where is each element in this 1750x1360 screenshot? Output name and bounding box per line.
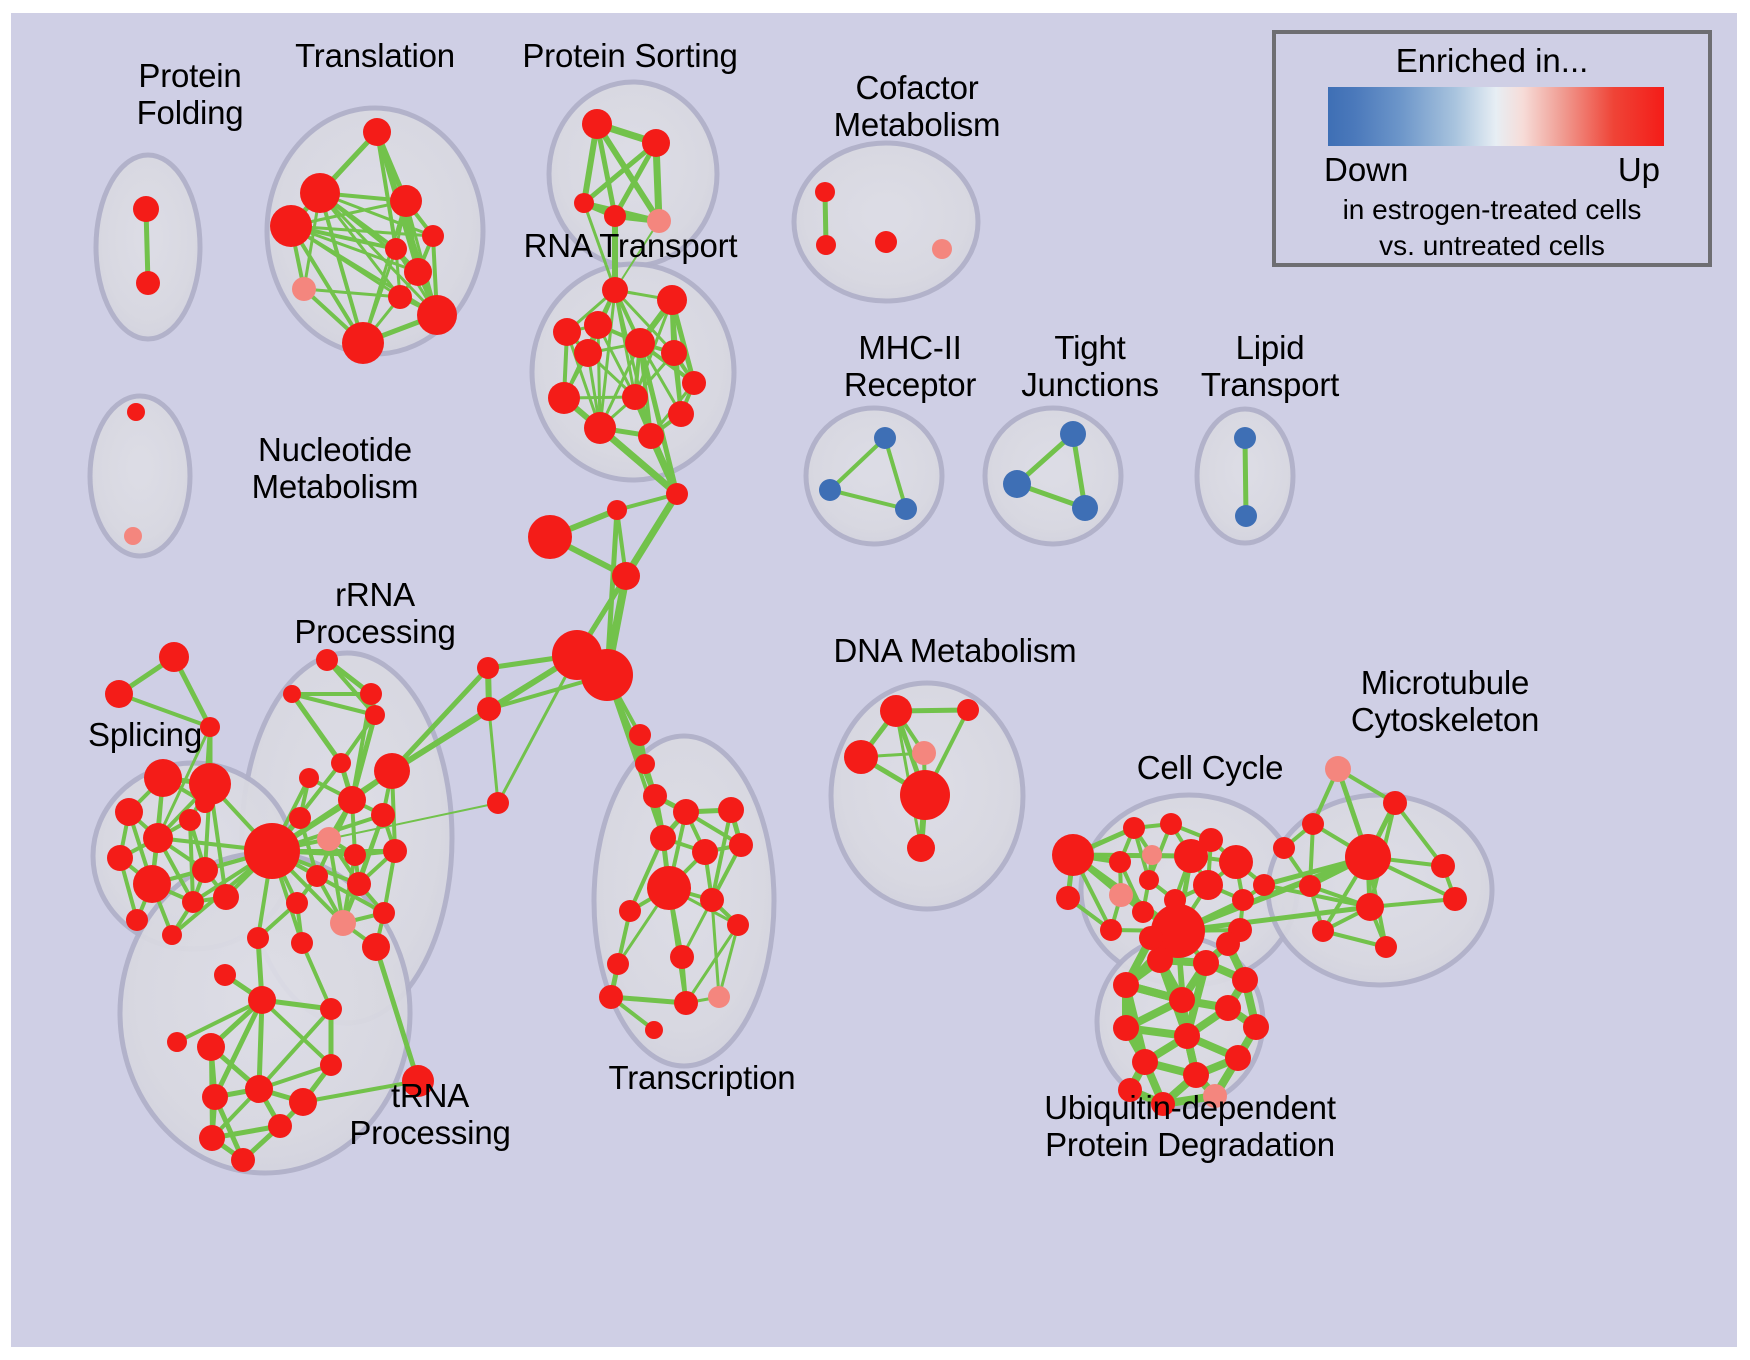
network-node[interactable]	[647, 866, 691, 910]
network-node[interactable]	[487, 792, 509, 814]
network-node[interactable]	[1193, 870, 1223, 900]
network-node[interactable]	[162, 925, 182, 945]
network-node[interactable]	[363, 118, 391, 146]
network-node[interactable]	[700, 888, 724, 912]
network-node[interactable]	[159, 642, 189, 672]
network-node[interactable]	[126, 909, 148, 931]
cluster-label-translation: Translation	[255, 38, 495, 75]
network-node[interactable]	[880, 695, 912, 727]
network-node[interactable]	[1356, 893, 1384, 921]
legend-subtitle-line2: vs. untreated cells	[1276, 230, 1708, 262]
cluster-hull-cofactor-metabolism	[794, 143, 978, 301]
network-node[interactable]	[1123, 817, 1145, 839]
network-node[interactable]	[668, 401, 694, 427]
network-node[interactable]	[1132, 1049, 1158, 1075]
network-node[interactable]	[124, 527, 142, 545]
network-node[interactable]	[622, 384, 648, 410]
network-node[interactable]	[182, 891, 204, 913]
network-node[interactable]	[718, 797, 744, 823]
network-node[interactable]	[674, 991, 698, 1015]
network-node[interactable]	[708, 986, 730, 1008]
network-node[interactable]	[844, 740, 878, 774]
network-node[interactable]	[1072, 495, 1098, 521]
network-node[interactable]	[306, 865, 328, 887]
network-node[interactable]	[105, 680, 133, 708]
network-node[interactable]	[604, 205, 626, 227]
network-node[interactable]	[373, 902, 395, 924]
network-node[interactable]	[248, 986, 276, 1014]
cluster-label-dna-metabolism: DNA Metabolism	[810, 633, 1100, 670]
network-node[interactable]	[365, 705, 385, 725]
network-node[interactable]	[1443, 887, 1467, 911]
network-node[interactable]	[283, 685, 301, 703]
network-node[interactable]	[932, 239, 952, 259]
network-node[interactable]	[1183, 1062, 1209, 1088]
network-node[interactable]	[599, 985, 623, 1009]
network-node[interactable]	[912, 741, 936, 765]
network-node[interactable]	[815, 182, 835, 202]
network-node[interactable]	[1216, 932, 1240, 956]
network-node[interactable]	[144, 759, 182, 797]
network-node[interactable]	[1302, 813, 1324, 835]
network-node[interactable]	[645, 1021, 663, 1039]
cluster-label-protein-sorting: Protein Sorting	[495, 38, 765, 75]
network-node[interactable]	[388, 285, 412, 309]
network-node[interactable]	[338, 786, 366, 814]
network-node[interactable]	[1375, 936, 1397, 958]
network-node[interactable]	[213, 884, 239, 910]
network-node[interactable]	[1232, 889, 1254, 911]
legend-low-label: Down	[1324, 151, 1408, 189]
network-node[interactable]	[1225, 1045, 1251, 1071]
legend-high-label: Up	[1618, 151, 1660, 189]
network-node[interactable]	[422, 225, 444, 247]
network-node[interactable]	[553, 318, 581, 346]
network-node[interactable]	[299, 768, 319, 788]
network-node[interactable]	[607, 953, 629, 975]
network-node[interactable]	[344, 844, 366, 866]
network-node[interactable]	[202, 1084, 228, 1110]
network-node[interactable]	[133, 196, 159, 222]
network-node[interactable]	[197, 1033, 225, 1061]
network-node[interactable]	[371, 803, 395, 827]
network-node[interactable]	[107, 845, 133, 871]
cluster-hull-mhc-ii-receptor	[806, 408, 942, 544]
network-node[interactable]	[231, 1148, 255, 1172]
network-node[interactable]	[528, 515, 572, 559]
network-node[interactable]	[1253, 874, 1275, 896]
network-node[interactable]	[1273, 837, 1295, 859]
network-node[interactable]	[1232, 967, 1258, 993]
network-node[interactable]	[1243, 1014, 1269, 1040]
network-node[interactable]	[477, 697, 501, 721]
network-node[interactable]	[330, 910, 356, 936]
network-node[interactable]	[1383, 791, 1407, 815]
network-node[interactable]	[1113, 972, 1139, 998]
network-node[interactable]	[875, 231, 897, 253]
network-node[interactable]	[199, 1125, 225, 1151]
network-node[interactable]	[816, 235, 836, 255]
network-node[interactable]	[477, 657, 499, 679]
network-node[interactable]	[245, 1075, 273, 1103]
network-node[interactable]	[1431, 854, 1455, 878]
cluster-label-splicing: Splicing	[60, 717, 230, 754]
network-node[interactable]	[619, 900, 641, 922]
cluster-label-cell-cycle: Cell Cycle	[1100, 750, 1320, 787]
network-node[interactable]	[607, 500, 627, 520]
network-edge	[489, 709, 498, 803]
network-node[interactable]	[286, 892, 308, 914]
network-node[interactable]	[629, 724, 651, 746]
network-node[interactable]	[342, 322, 384, 364]
network-node[interactable]	[390, 185, 422, 217]
network-node[interactable]	[1169, 987, 1195, 1013]
network-node[interactable]	[347, 872, 371, 896]
network-node[interactable]	[167, 1032, 187, 1052]
network-node[interactable]	[1142, 845, 1162, 865]
network-node[interactable]	[1100, 919, 1122, 941]
network-node[interactable]	[1132, 901, 1154, 923]
cluster-hull-tight-junctions	[985, 408, 1121, 544]
network-node[interactable]	[192, 857, 218, 883]
cluster-label-trna-processing: tRNA Processing	[310, 1078, 550, 1152]
network-node[interactable]	[1234, 427, 1256, 449]
network-node[interactable]	[1160, 813, 1182, 835]
network-node[interactable]	[1139, 926, 1163, 950]
enrichment-network-figure: Protein FoldingTranslationProtein Sortin…	[0, 0, 1750, 1360]
network-node[interactable]	[584, 311, 612, 339]
network-node[interactable]	[360, 683, 382, 705]
network-node[interactable]	[670, 945, 694, 969]
network-node[interactable]	[729, 833, 753, 857]
network-node[interactable]	[136, 271, 160, 295]
network-node[interactable]	[1219, 845, 1253, 879]
network-node[interactable]	[320, 998, 342, 1020]
network-node[interactable]	[1139, 870, 1159, 890]
network-node[interactable]	[133, 865, 171, 903]
network-node[interactable]	[291, 932, 313, 954]
network-node[interactable]	[682, 371, 706, 395]
cluster-label-nucleotide-metabolism: Nucleotide Metabolism	[200, 432, 470, 506]
network-node[interactable]	[650, 825, 676, 851]
network-node[interactable]	[692, 839, 718, 865]
network-node[interactable]	[383, 839, 407, 863]
network-node[interactable]	[1003, 470, 1031, 498]
network-node[interactable]	[1052, 834, 1094, 876]
network-node[interactable]	[673, 799, 699, 825]
network-node[interactable]	[638, 423, 664, 449]
network-node[interactable]	[1056, 886, 1080, 910]
network-edge	[1245, 438, 1246, 516]
network-node[interactable]	[316, 649, 338, 671]
network-node[interactable]	[1174, 839, 1208, 873]
cluster-label-microtubule-cytoskeleton: Microtubule Cytoskeleton	[1290, 665, 1600, 739]
network-node[interactable]	[300, 173, 340, 213]
network-node[interactable]	[895, 498, 917, 520]
network-node[interactable]	[1174, 1023, 1200, 1049]
network-node[interactable]	[612, 562, 640, 590]
network-node[interactable]	[127, 403, 145, 421]
network-node[interactable]	[907, 834, 935, 862]
network-node[interactable]	[214, 964, 236, 986]
network-node[interactable]	[643, 784, 667, 808]
color-scale-bar	[1328, 87, 1664, 146]
network-node[interactable]	[1147, 947, 1173, 973]
network-node[interactable]	[900, 770, 950, 820]
network-node[interactable]	[548, 382, 580, 414]
network-node[interactable]	[195, 793, 215, 813]
network-node[interactable]	[584, 412, 616, 444]
network-node[interactable]	[602, 277, 628, 303]
network-node[interactable]	[244, 823, 300, 879]
network-node[interactable]	[574, 193, 594, 213]
legend-title: Enriched in...	[1276, 42, 1708, 80]
network-node[interactable]	[385, 238, 407, 260]
network-node[interactable]	[625, 328, 655, 358]
network-node[interactable]	[143, 823, 173, 853]
network-node[interactable]	[1060, 421, 1086, 447]
network-node[interactable]	[247, 927, 269, 949]
network-node[interactable]	[582, 109, 612, 139]
network-node[interactable]	[1215, 995, 1241, 1021]
network-node[interactable]	[1113, 1015, 1139, 1041]
cluster-label-rrna-processing: rRNA Processing	[255, 577, 495, 651]
cluster-label-transcription: Transcription	[577, 1060, 827, 1097]
network-node[interactable]	[417, 295, 457, 335]
cluster-label-rna-transport: RNA Transport	[498, 228, 763, 265]
network-node[interactable]	[661, 340, 687, 366]
network-node[interactable]	[874, 427, 896, 449]
network-node[interactable]	[819, 479, 841, 501]
network-node[interactable]	[404, 258, 432, 286]
network-node[interactable]	[289, 807, 311, 829]
network-node[interactable]	[1109, 883, 1133, 907]
network-node[interactable]	[374, 753, 410, 789]
network-node[interactable]	[581, 649, 633, 701]
network-node[interactable]	[179, 809, 201, 831]
network-node[interactable]	[1299, 875, 1321, 897]
cluster-hull-rna-transport	[532, 264, 734, 480]
network-node[interactable]	[657, 285, 687, 315]
network-node[interactable]	[727, 914, 749, 936]
network-node[interactable]	[957, 699, 979, 721]
legend-box: Enriched in... Down Up in estrogen-treat…	[1272, 30, 1712, 267]
network-node[interactable]	[1193, 950, 1219, 976]
cluster-label-cofactor-metabolism: Cofactor Metabolism	[787, 70, 1047, 144]
network-node[interactable]	[331, 753, 351, 773]
network-node[interactable]	[1325, 756, 1351, 782]
network-node[interactable]	[1109, 851, 1131, 873]
network-node[interactable]	[666, 483, 688, 505]
network-node[interactable]	[642, 129, 670, 157]
network-node[interactable]	[115, 798, 143, 826]
network-node[interactable]	[292, 277, 316, 301]
network-node[interactable]	[1235, 505, 1257, 527]
network-node[interactable]	[270, 205, 312, 247]
cluster-label-lipid-transport: Lipid Transport	[1155, 330, 1385, 404]
cluster-label-ubiquitin-degradation: Ubiquitin-dependent Protein Degradation	[975, 1090, 1405, 1164]
network-node[interactable]	[1312, 920, 1334, 942]
legend-subtitle-line1: in estrogen-treated cells	[1276, 194, 1708, 226]
network-node[interactable]	[320, 1054, 342, 1076]
network-node[interactable]	[362, 933, 390, 961]
network-node[interactable]	[574, 339, 602, 367]
network-node[interactable]	[635, 754, 655, 774]
network-node[interactable]	[317, 827, 341, 851]
network-node[interactable]	[1345, 834, 1391, 880]
network-node[interactable]	[268, 1114, 292, 1138]
